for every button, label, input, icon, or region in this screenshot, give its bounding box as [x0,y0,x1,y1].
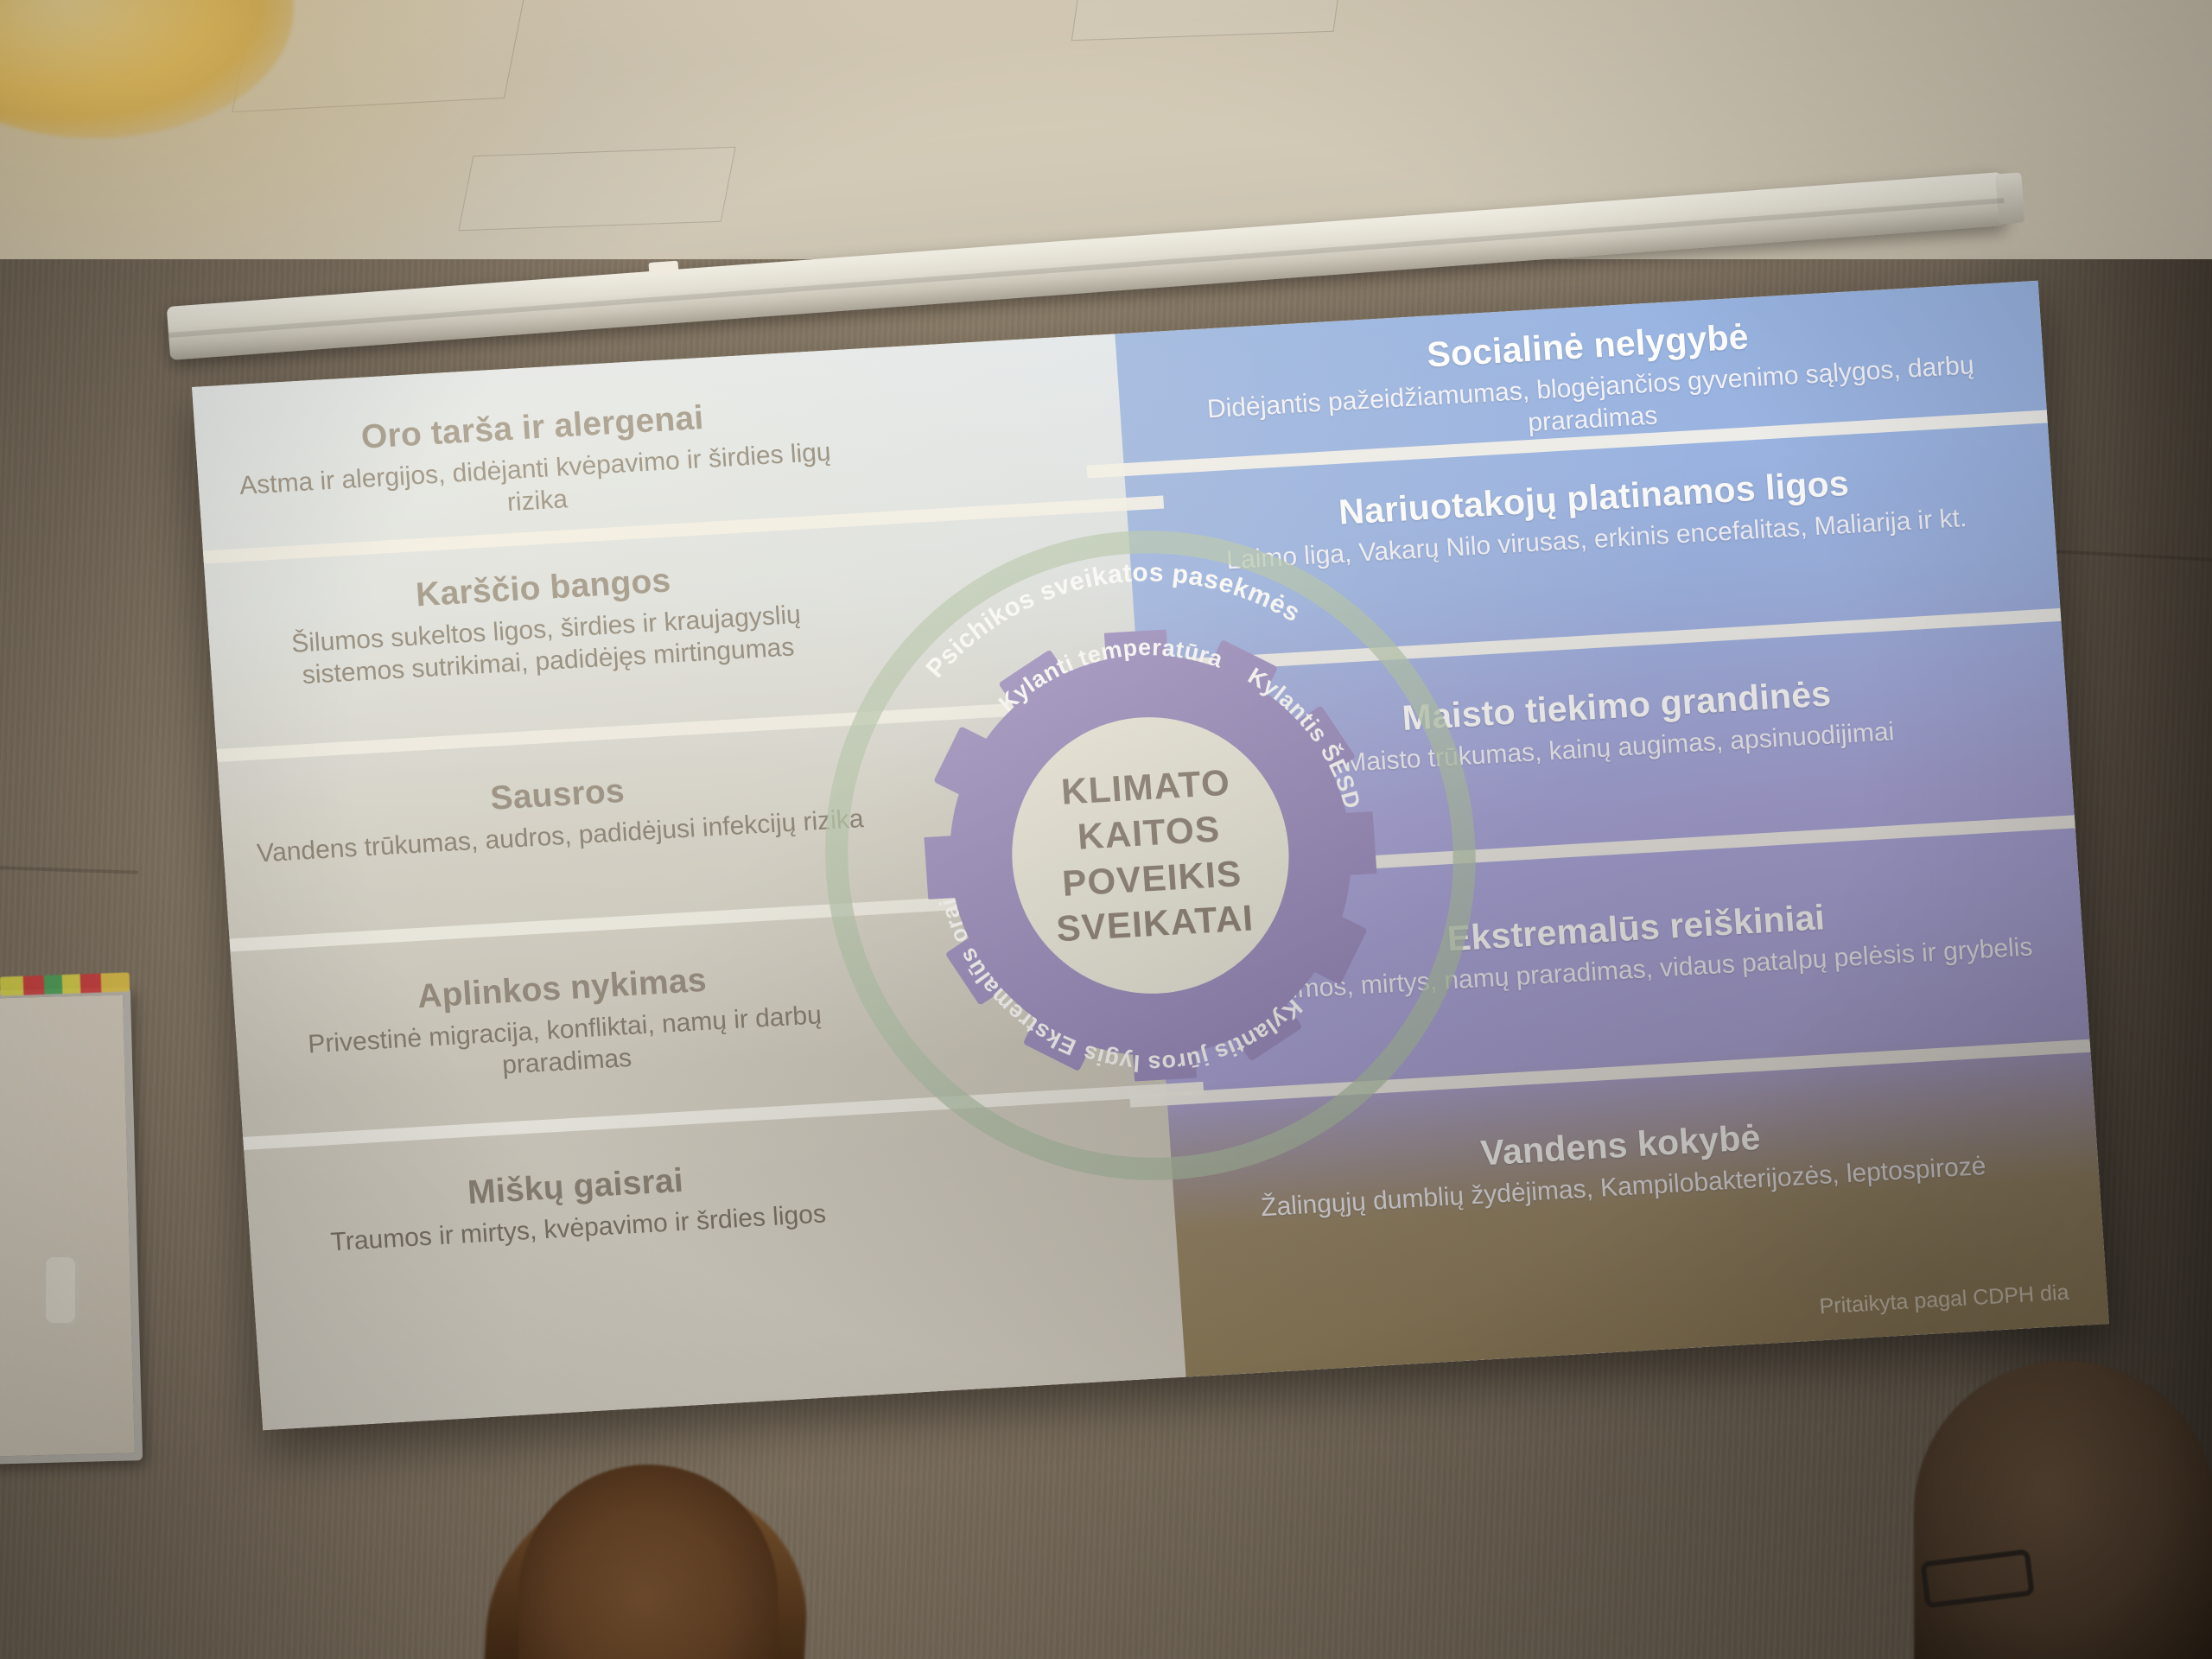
hub-line-1: KLIMATO [1060,761,1232,814]
projection-screen: Oro tarša ir alergenai Astma ir alergijo… [192,281,2109,1430]
slide-canvas: Oro tarša ir alergenai Astma ir alergijo… [192,281,2109,1430]
climate-gear-diagram: Psichikos sveikatos pasekmės [800,509,1500,1202]
screen-case-endcap [1995,172,2024,224]
hub-line-2: KAITOS [1077,807,1222,858]
room-scene: Oro tarša ir alergenai Astma ir alergijo… [0,0,2212,1659]
hub-line-4: SVEIKATAI [1055,896,1255,950]
screen-case-nub [648,261,678,275]
audience-head-right [1914,1361,2212,1659]
whiteboard-handle [41,1253,79,1327]
hub-line-3: POVEIKIS [1061,852,1243,905]
whiteboard [0,987,143,1465]
